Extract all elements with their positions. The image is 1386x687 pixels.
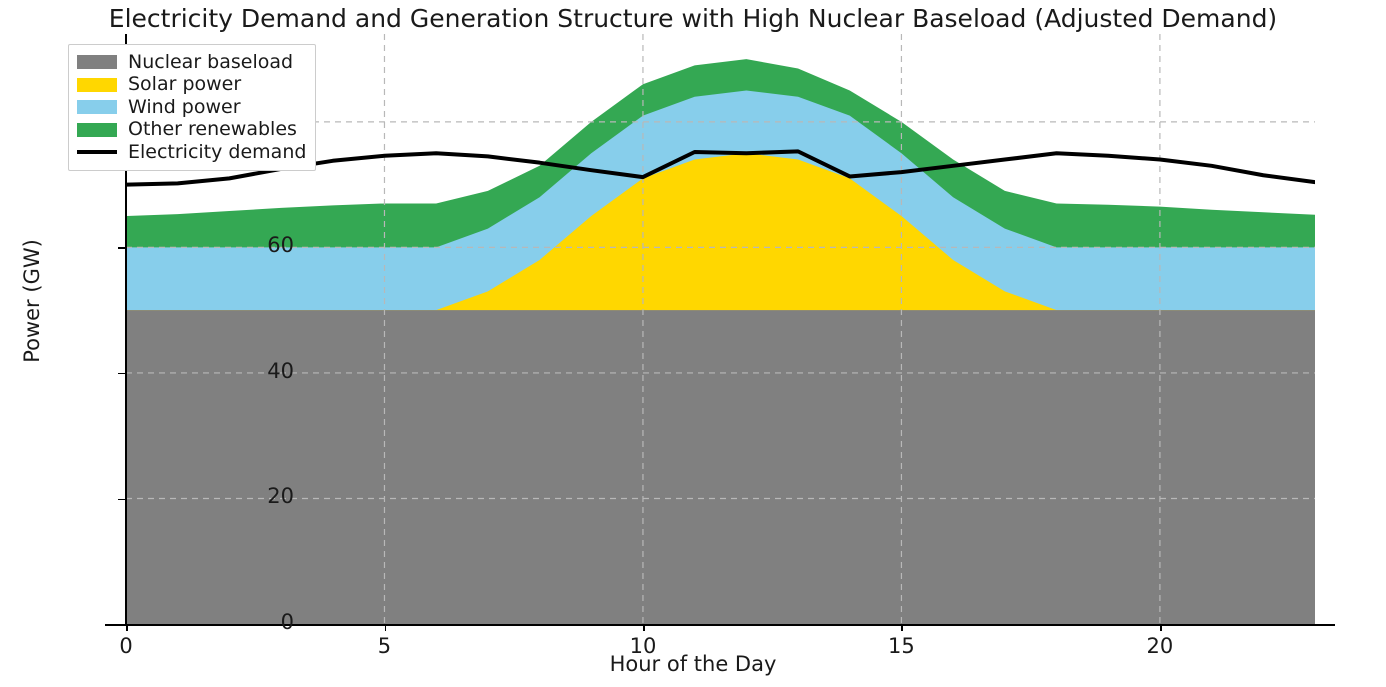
- legend-item[interactable]: Nuclear baseload: [77, 51, 306, 74]
- y-axis-label: Power (GW): [20, 1, 44, 601]
- x-tick-mark: [901, 624, 903, 631]
- x-tick-mark: [1160, 624, 1162, 631]
- legend-item[interactable]: Other renewables: [77, 119, 306, 142]
- y-tick-mark: [118, 373, 126, 375]
- y-tick-label: 20: [94, 484, 294, 508]
- chart-legend: Nuclear baseloadSolar powerWind powerOth…: [68, 44, 316, 171]
- legend-color-swatch-icon: [77, 100, 117, 114]
- x-tick-mark: [643, 624, 645, 631]
- legend-item-label: Solar power: [128, 75, 241, 94]
- nuclear-baseload-area: [126, 310, 1315, 624]
- y-tick-label: 60: [94, 233, 294, 257]
- legend-item-label: Electricity demand: [128, 143, 306, 162]
- legend-color-swatch-icon: [77, 123, 117, 137]
- x-tick-mark: [385, 624, 387, 631]
- legend-item[interactable]: Wind power: [77, 96, 306, 119]
- x-tick-mark: [126, 624, 128, 631]
- y-tick-mark: [118, 499, 126, 501]
- chart-title: Electricity Demand and Generation Struct…: [0, 4, 1386, 33]
- legend-item[interactable]: Solar power: [77, 74, 306, 97]
- y-tick-label: 0: [94, 610, 294, 634]
- legend-line-swatch-icon: [77, 150, 117, 154]
- legend-color-swatch-icon: [77, 55, 117, 69]
- legend-item-label: Wind power: [128, 98, 241, 117]
- chart-figure: Electricity Demand and Generation Struct…: [0, 0, 1386, 687]
- y-tick-mark: [118, 624, 126, 626]
- y-tick-mark: [118, 247, 126, 249]
- legend-item-label: Nuclear baseload: [128, 53, 293, 72]
- y-tick-label: 40: [94, 359, 294, 383]
- legend-item[interactable]: Electricity demand: [77, 141, 306, 164]
- legend-color-swatch-icon: [77, 78, 117, 92]
- legend-item-label: Other renewables: [128, 120, 297, 139]
- x-axis-label: Hour of the Day: [0, 652, 1386, 676]
